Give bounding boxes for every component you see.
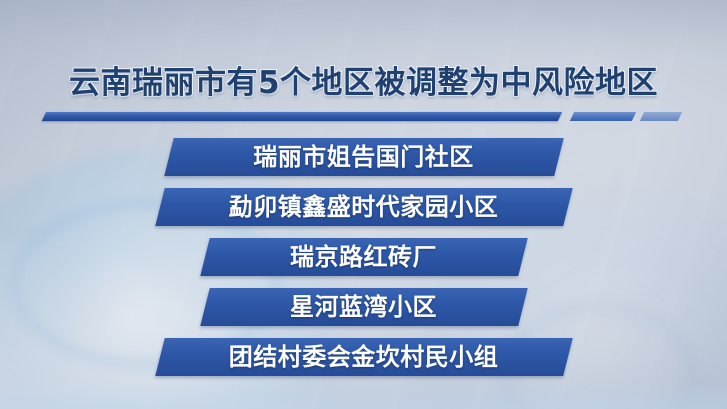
headline-container: 云南瑞丽市有5个地区被调整为中风险地区 (0, 68, 727, 99)
list-item: 勐卯镇鑫盛时代家园小区 (0, 188, 727, 226)
graphic-content: 云南瑞丽市有5个地区被调整为中风险地区 瑞丽市姐告国门社区 勐卯镇鑫盛时代家园小… (0, 0, 727, 409)
broadcast-graphic-screen: 云南瑞丽市有5个地区被调整为中风险地区 瑞丽市姐告国门社区 勐卯镇鑫盛时代家园小… (0, 0, 727, 409)
headline-underline (44, 112, 684, 123)
list-item-label: 瑞丽市姐告国门社区 (0, 138, 727, 176)
underline-segment-primary (42, 112, 562, 121)
list-item: 星河蓝湾小区 (0, 288, 727, 326)
list-item: 瑞丽市姐告国门社区 (0, 138, 727, 176)
list-item-label: 团结村委会金坎村民小组 (0, 338, 727, 376)
list-item-label: 瑞京路红砖厂 (0, 238, 727, 276)
page-title: 云南瑞丽市有5个地区被调整为中风险地区 (69, 68, 658, 99)
list-item-label: 星河蓝湾小区 (0, 288, 727, 326)
underline-segment-secondary (570, 112, 636, 121)
list-item-label: 勐卯镇鑫盛时代家园小区 (0, 188, 727, 226)
list-item: 团结村委会金坎村民小组 (0, 338, 727, 376)
risk-area-list: 瑞丽市姐告国门社区 勐卯镇鑫盛时代家园小区 瑞京路红砖厂 星河蓝湾小区 团结村委… (0, 138, 727, 388)
list-item: 瑞京路红砖厂 (0, 238, 727, 276)
underline-segment-tertiary (640, 112, 682, 121)
